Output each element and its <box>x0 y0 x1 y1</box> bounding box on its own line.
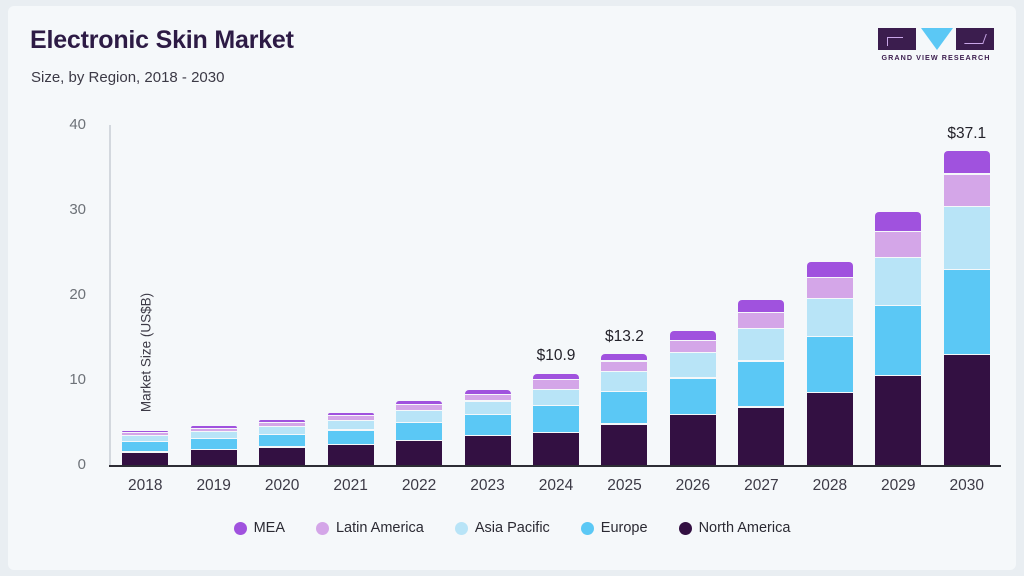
legend-item[interactable]: Latin America <box>316 520 424 536</box>
bar-segment[interactable] <box>191 426 237 427</box>
legend-item[interactable]: Europe <box>581 520 648 536</box>
bar-group[interactable] <box>807 117 853 465</box>
bar-segment[interactable] <box>191 450 237 465</box>
bar-segment[interactable] <box>738 300 784 312</box>
bar-segment[interactable] <box>259 448 305 466</box>
bar-group[interactable] <box>601 117 647 465</box>
legend-swatch-icon <box>581 522 594 535</box>
legend-swatch-icon <box>455 522 468 535</box>
bar-segment[interactable] <box>875 212 921 231</box>
y-axis-line <box>109 125 111 465</box>
bar-segment[interactable] <box>533 390 579 405</box>
bar-segment[interactable] <box>533 406 579 432</box>
bar-segment[interactable] <box>533 380 579 388</box>
bar-total-label: $10.9 <box>496 347 616 365</box>
bar-segment[interactable] <box>601 372 647 391</box>
chart-legend: MEALatin AmericaAsia PacificEuropeNorth … <box>8 520 1016 536</box>
bar-segment[interactable] <box>396 423 442 440</box>
legend-label: Latin America <box>336 520 424 536</box>
bar-group[interactable] <box>396 117 442 465</box>
bar-segment[interactable] <box>396 405 442 410</box>
bar-segment[interactable] <box>122 453 168 465</box>
bar-segment[interactable] <box>875 376 921 465</box>
bar-segment[interactable] <box>465 402 511 414</box>
legend-item[interactable]: Asia Pacific <box>455 520 550 536</box>
bar-segment[interactable] <box>191 432 237 438</box>
bar-segment[interactable] <box>191 439 237 449</box>
legend-swatch-icon <box>316 522 329 535</box>
bar-segment[interactable] <box>944 207 990 269</box>
bar-segment[interactable] <box>807 299 853 336</box>
bar-segment[interactable] <box>670 353 716 377</box>
x-axis-line <box>109 465 1001 467</box>
bar-group[interactable] <box>122 117 168 465</box>
page-subtitle: Size, by Region, 2018 - 2030 <box>31 69 224 86</box>
bar-segment[interactable] <box>944 151 990 174</box>
bar-segment[interactable] <box>122 433 168 435</box>
y-axis-tick: 30 <box>26 201 86 218</box>
bar-group[interactable] <box>259 117 305 465</box>
bar-segment[interactable] <box>122 436 168 441</box>
bar-segment[interactable] <box>328 416 374 420</box>
bar-group[interactable] <box>670 117 716 465</box>
bar-group[interactable] <box>738 117 784 465</box>
legend-swatch-icon <box>234 522 247 535</box>
bar-segment[interactable] <box>533 433 579 465</box>
bar-group[interactable] <box>328 117 374 465</box>
bar-segment[interactable] <box>328 413 374 415</box>
bar-group[interactable] <box>191 117 237 465</box>
bar-segment[interactable] <box>328 445 374 465</box>
bar-segment[interactable] <box>807 278 853 297</box>
bar-segment[interactable] <box>738 362 784 407</box>
bar-segment[interactable] <box>601 425 647 465</box>
bar-segment[interactable] <box>807 262 853 277</box>
bar-segment[interactable] <box>944 270 990 354</box>
legend-label: North America <box>699 520 791 536</box>
bar-segment[interactable] <box>396 441 442 465</box>
legend-label: MEA <box>254 520 285 536</box>
legend-label: Europe <box>601 520 648 536</box>
bar-segment[interactable] <box>328 431 374 444</box>
bar-segment[interactable] <box>875 306 921 375</box>
bar-segment[interactable] <box>875 258 921 305</box>
bar-group[interactable] <box>533 117 579 465</box>
logo-arrow-right-icon <box>964 34 987 44</box>
chart-plot-area: Market Size (US$B) 010203040 20182019202… <box>111 117 1001 465</box>
logo-triangle-icon <box>921 28 953 50</box>
bar-segment[interactable] <box>259 427 305 433</box>
bar-segment[interactable] <box>259 435 305 447</box>
legend-item[interactable]: MEA <box>234 520 285 536</box>
y-axis-tick: 10 <box>26 371 86 388</box>
bar-segment[interactable] <box>465 390 511 394</box>
bar-segment[interactable] <box>944 355 990 465</box>
y-axis-tick: 20 <box>26 286 86 303</box>
logo-wordmark: GRAND VIEW RESEARCH <box>878 53 994 62</box>
bar-segment[interactable] <box>533 374 579 380</box>
x-axis-tick: 2030 <box>922 477 1012 495</box>
bar-total-label: $37.1 <box>907 125 1016 143</box>
bar-segment[interactable] <box>670 379 716 414</box>
bar-segment[interactable] <box>259 423 305 426</box>
y-axis-tick: 0 <box>26 456 86 473</box>
bar-segment[interactable] <box>465 395 511 401</box>
bar-segment[interactable] <box>875 232 921 256</box>
legend-swatch-icon <box>679 522 692 535</box>
legend-item[interactable]: North America <box>679 520 791 536</box>
logo-bracket-left-icon <box>887 37 903 46</box>
bar-segment[interactable] <box>191 429 237 431</box>
bar-segment[interactable] <box>738 329 784 360</box>
y-axis-tick: 40 <box>26 116 86 133</box>
bar-group[interactable] <box>944 117 990 465</box>
bar-segment[interactable] <box>396 411 442 422</box>
grand-view-research-logo: GRAND VIEW RESEARCH <box>878 28 994 66</box>
bar-total-label: $13.2 <box>564 328 684 346</box>
bar-segment[interactable] <box>122 431 168 432</box>
bar-segment[interactable] <box>601 392 647 423</box>
bar-segment[interactable] <box>465 436 511 465</box>
bar-segment[interactable] <box>944 175 990 206</box>
bar-segment[interactable] <box>465 415 511 435</box>
bar-segment[interactable] <box>807 337 853 392</box>
bar-segment[interactable] <box>122 442 168 451</box>
chart-card: Electronic Skin Market Size, by Region, … <box>8 6 1016 570</box>
bar-segment[interactable] <box>807 393 853 465</box>
page-title: Electronic Skin Market <box>30 26 294 55</box>
bar-segment[interactable] <box>738 408 784 465</box>
bar-group[interactable] <box>465 117 511 465</box>
bar-segment[interactable] <box>738 313 784 328</box>
bar-group[interactable] <box>875 117 921 465</box>
bar-segment[interactable] <box>396 401 442 404</box>
bar-segment[interactable] <box>259 420 305 421</box>
legend-label: Asia Pacific <box>475 520 550 536</box>
bar-segment[interactable] <box>670 415 716 465</box>
bar-segment[interactable] <box>328 421 374 429</box>
